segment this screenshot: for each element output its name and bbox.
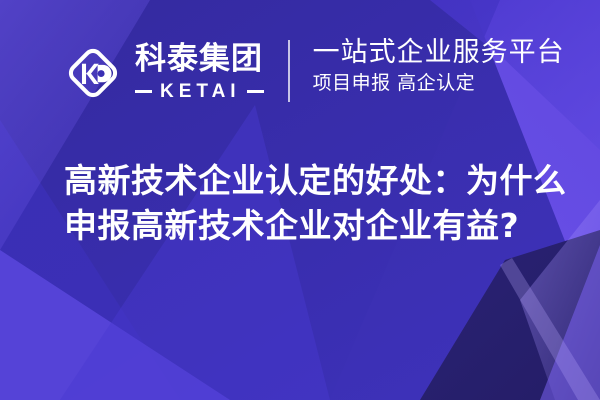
headline: 高新技术企业认定的好处：为什么 申报高新技术企业对企业有益? <box>64 158 554 248</box>
header-divider <box>288 40 290 102</box>
tagline-block: 一站式企业服务平台 项目申报 高企认定 <box>313 36 565 94</box>
tagline-sub: 项目申报 高企认定 <box>313 73 565 94</box>
tagline-main: 一站式企业服务平台 <box>313 38 565 67</box>
headline-line-1: 高新技术企业认定的好处：为什么 <box>64 158 554 203</box>
logo-company-cn: 科泰集团 <box>135 44 264 75</box>
logo-company-en: KETAI <box>152 82 247 101</box>
logo-dash-left-icon <box>135 90 152 93</box>
ketai-diamond-monogram-icon <box>64 44 122 102</box>
logo-wordmark: 科泰集团 KETAI <box>135 44 264 101</box>
logo-company-en-row: KETAI <box>135 82 264 101</box>
promo-banner: 科泰集团 KETAI 一站式企业服务平台 项目申报 高企认定 高新技术企业认定的… <box>0 0 600 400</box>
banner-header: 科泰集团 KETAI 一站式企业服务平台 项目申报 高企认定 <box>64 36 565 112</box>
headline-line-2: 申报高新技术企业对企业有益? <box>64 203 554 248</box>
logo-dash-right-icon <box>247 90 264 93</box>
ketai-logo[interactable]: 科泰集团 KETAI <box>64 36 264 108</box>
